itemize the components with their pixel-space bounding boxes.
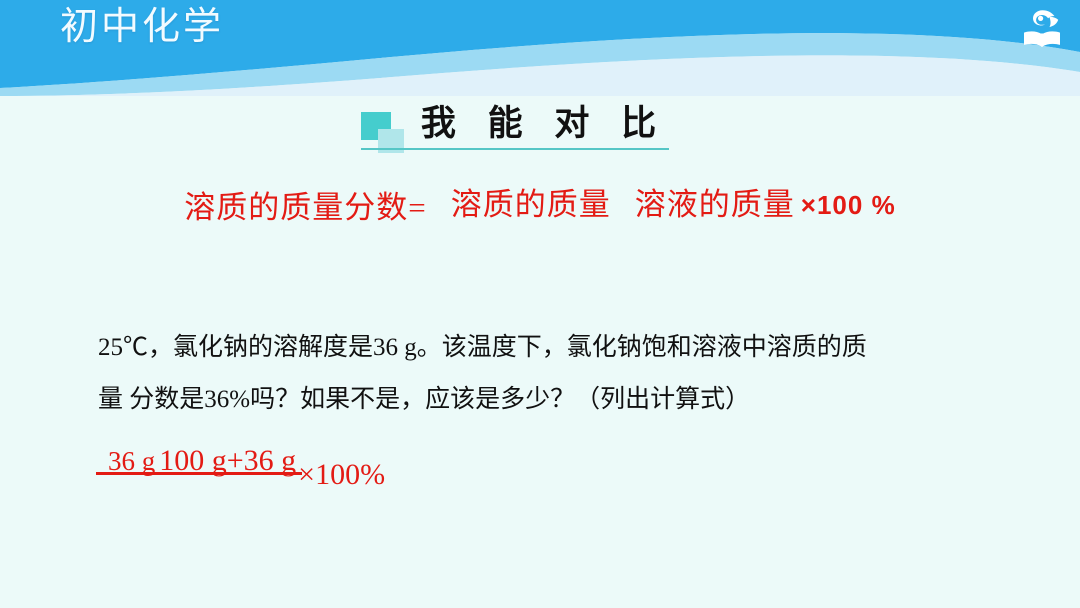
answer-fraction: 36 g 100 g+36 g bbox=[108, 446, 296, 476]
formula-numerator: 溶质的质量 bbox=[441, 187, 621, 222]
section-title-text: 我 能 对 比 bbox=[417, 106, 671, 147]
formula-denominator: 溶液的质量 bbox=[625, 187, 805, 222]
header-band: 初中化学 bbox=[0, 0, 1080, 96]
question-line-1: 25℃，氯化钠的溶解度是36 g。该温度下，氯化钠饱和溶液中溶质的质 bbox=[98, 322, 1008, 374]
formula-left-hand-side: 溶质的质量分数= bbox=[184, 182, 426, 229]
question-text-block: 25℃，氯化钠的溶解度是36 g。该温度下，氯化钠饱和溶液中溶质的质 量 分数是… bbox=[98, 322, 1008, 426]
section-title-block: 我 能 对 比 bbox=[0, 106, 1080, 147]
question-line-2: 量 分数是36%吗？如果不是，应该是多少？（列出计算式） bbox=[98, 374, 1008, 426]
answer-fraction-bar bbox=[96, 472, 302, 475]
answer-expression: 36 g 100 g+36 g ×100% bbox=[108, 446, 385, 490]
mass-fraction-formula: 溶质的质量分数= 溶质的质量 溶液的质量 ×100 % bbox=[0, 182, 1080, 229]
formula-multiplier: ×100 % bbox=[801, 190, 896, 221]
answer-multiplier: ×100% bbox=[298, 460, 385, 490]
header-title: 初中化学 bbox=[60, 2, 224, 53]
section-title-underline bbox=[361, 148, 669, 150]
formula-fraction: 溶质的质量 溶液的质量 bbox=[441, 188, 805, 223]
open-book-logo-icon bbox=[1020, 8, 1064, 50]
